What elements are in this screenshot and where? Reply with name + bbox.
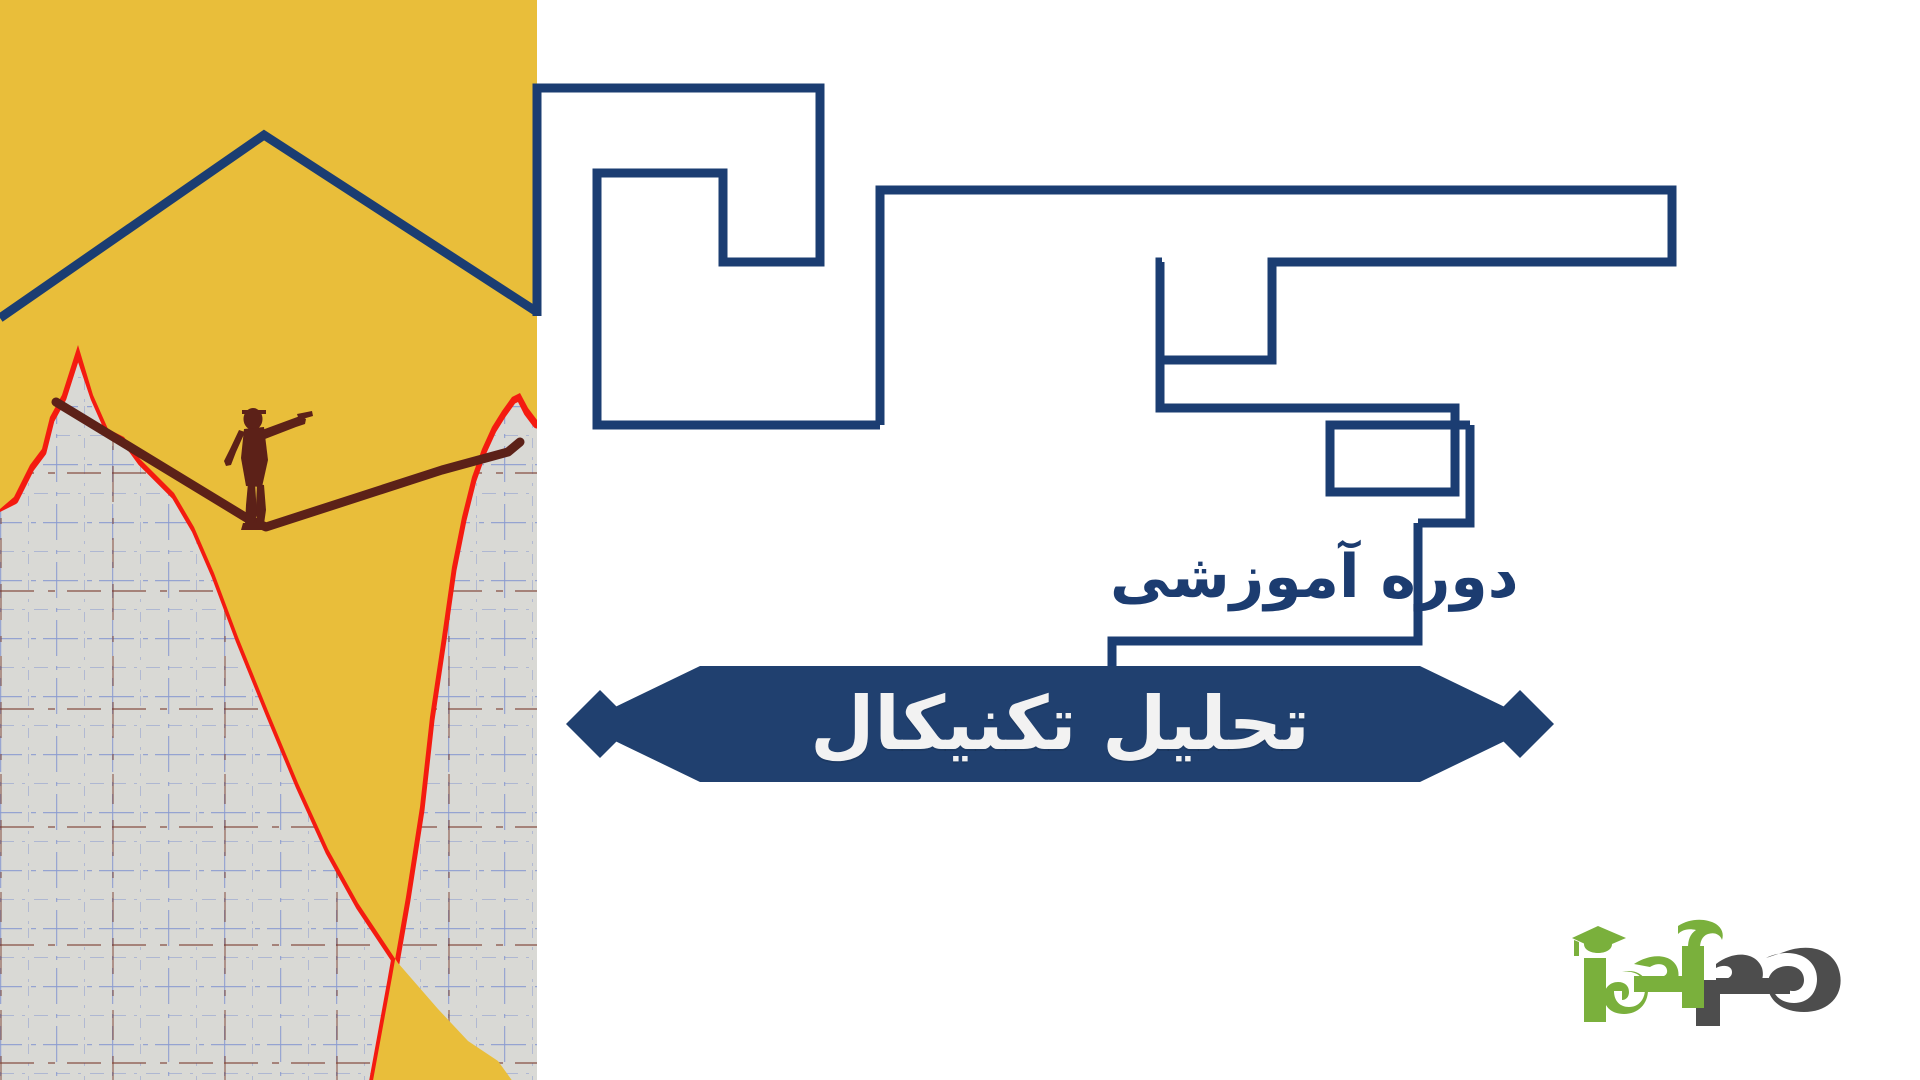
title-ribbon [566, 666, 1554, 782]
graduation-cap-icon [1572, 926, 1626, 956]
hexagon-ribbon [580, 666, 1540, 782]
left-illustration-panel [0, 0, 537, 1080]
logo-text-dark [1696, 948, 1841, 1026]
logo-text-green [1572, 920, 1723, 1022]
course-subtitle: دوره آموزشی [1110, 534, 1530, 620]
poster-canvas: دوره آموزشی تحلیل تکنیکال [0, 0, 1920, 1080]
brand-logo[interactable] [1568, 912, 1888, 1032]
brand-logo-mark [1568, 912, 1888, 1032]
